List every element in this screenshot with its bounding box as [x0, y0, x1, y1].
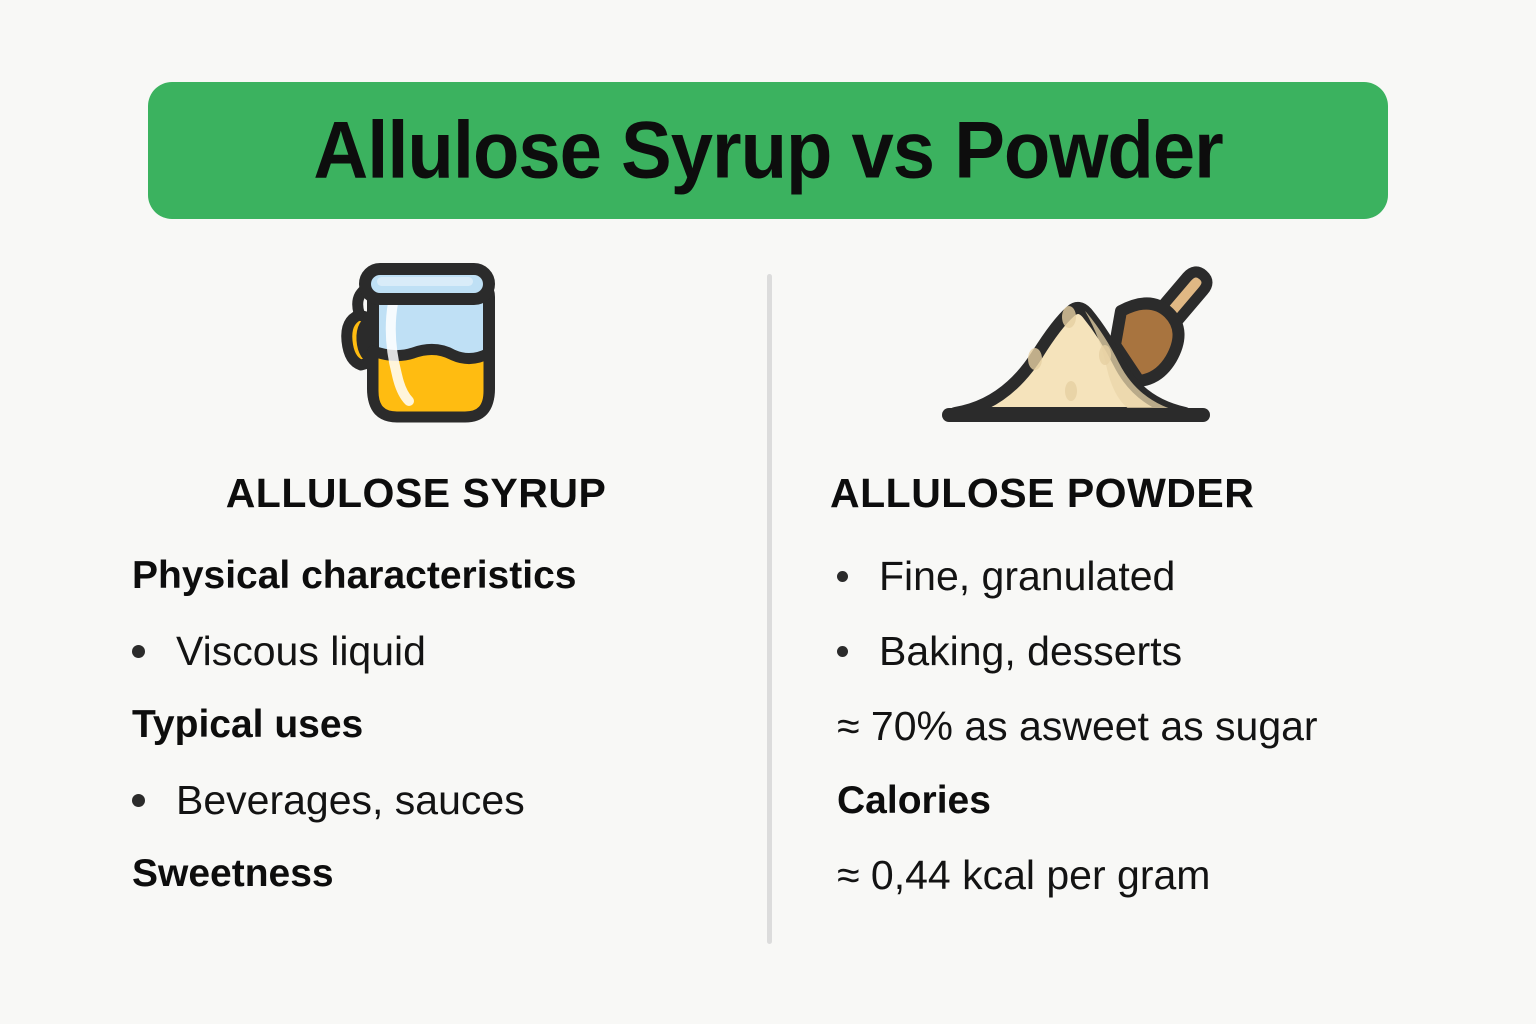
column-allulose-powder: ALLULOSE POWDER Fine, granulated Baking,… [800, 250, 1440, 930]
row-label-physical-characteristics: Physical characteristics [132, 556, 740, 595]
row-text: Baking, desserts [879, 631, 1182, 672]
syrup-rows: Physical characteristics Viscous liquid … [100, 556, 740, 893]
row-bullet-fine-granulated: Fine, granulated [837, 556, 1440, 597]
column-allulose-syrup: ALLULOSE SYRUP Physical characteristics … [100, 250, 740, 929]
bullet-dot-icon [837, 646, 848, 657]
bullet-dot-icon [837, 571, 848, 582]
row-value-sweetness-percent: ≈ 70% as asweet as sugar [837, 706, 1440, 747]
honey-jar-icon-wrapper [100, 250, 740, 445]
row-label-sweetness: Sweetness [132, 854, 740, 893]
bullet-dot-icon [132, 645, 145, 658]
title-banner: Allulose Syrup vs Powder [148, 82, 1388, 219]
row-bullet-baking-desserts: Baking, desserts [837, 631, 1440, 672]
row-text: Viscous liquid [176, 631, 426, 672]
bullet-dot-icon [132, 794, 145, 807]
row-label-typical-uses: Typical uses [132, 705, 740, 744]
row-bullet-beverages-sauces: Beverages, sauces [132, 780, 740, 821]
column-divider [767, 274, 772, 944]
row-value-calories-per-gram: ≈ 0,44 kcal per gram [837, 855, 1440, 896]
column-heading-powder: ALLULOSE POWDER [800, 473, 1440, 514]
honey-jar-icon [315, 255, 515, 440]
powder-scoop-icon-wrapper [800, 250, 1440, 445]
powder-scoop-icon [935, 255, 1215, 440]
powder-rows: Fine, granulated Baking, desserts ≈ 70% … [800, 556, 1440, 896]
row-text: Fine, granulated [879, 556, 1175, 597]
row-label-calories: Calories [837, 781, 1440, 820]
column-heading-syrup: ALLULOSE SYRUP [100, 473, 740, 514]
page-title: Allulose Syrup vs Powder [313, 110, 1222, 191]
row-text: Beverages, sauces [176, 780, 525, 821]
row-bullet-viscous-liquid: Viscous liquid [132, 631, 740, 672]
